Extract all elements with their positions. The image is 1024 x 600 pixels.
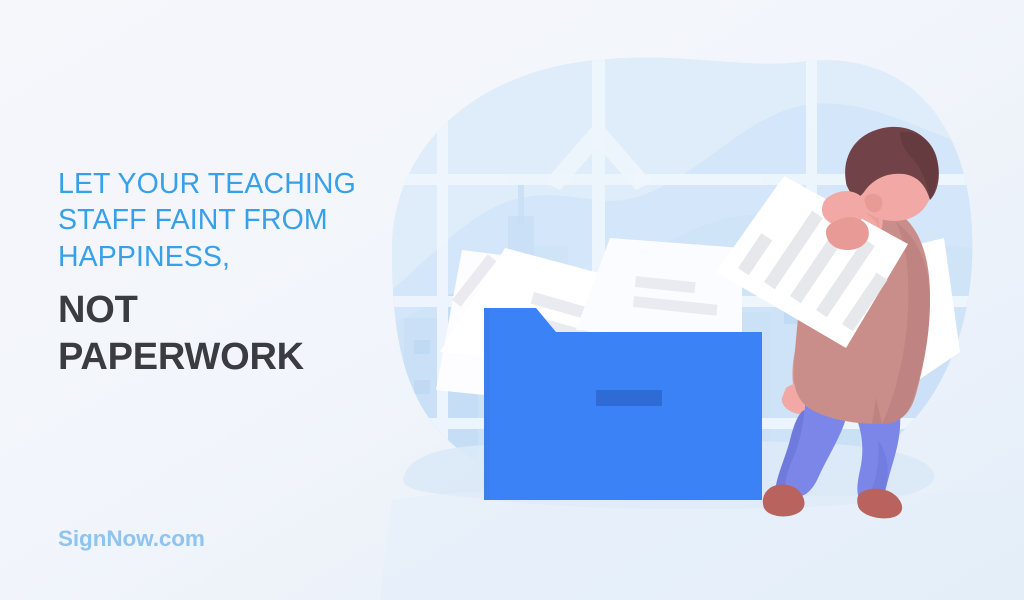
file-folder: [484, 308, 762, 500]
headline-secondary: NOT PAPERWORK: [58, 287, 388, 380]
brand-logo-text[interactable]: SignNow.com: [58, 526, 205, 552]
folder-handle: [596, 390, 662, 406]
headline-block: LET YOUR TEACHING STAFF FAINT FROM HAPPI…: [58, 166, 388, 380]
promo-banner: LET YOUR TEACHING STAFF FAINT FROM HAPPI…: [0, 0, 1024, 600]
headline-primary: LET YOUR TEACHING STAFF FAINT FROM HAPPI…: [58, 166, 388, 275]
